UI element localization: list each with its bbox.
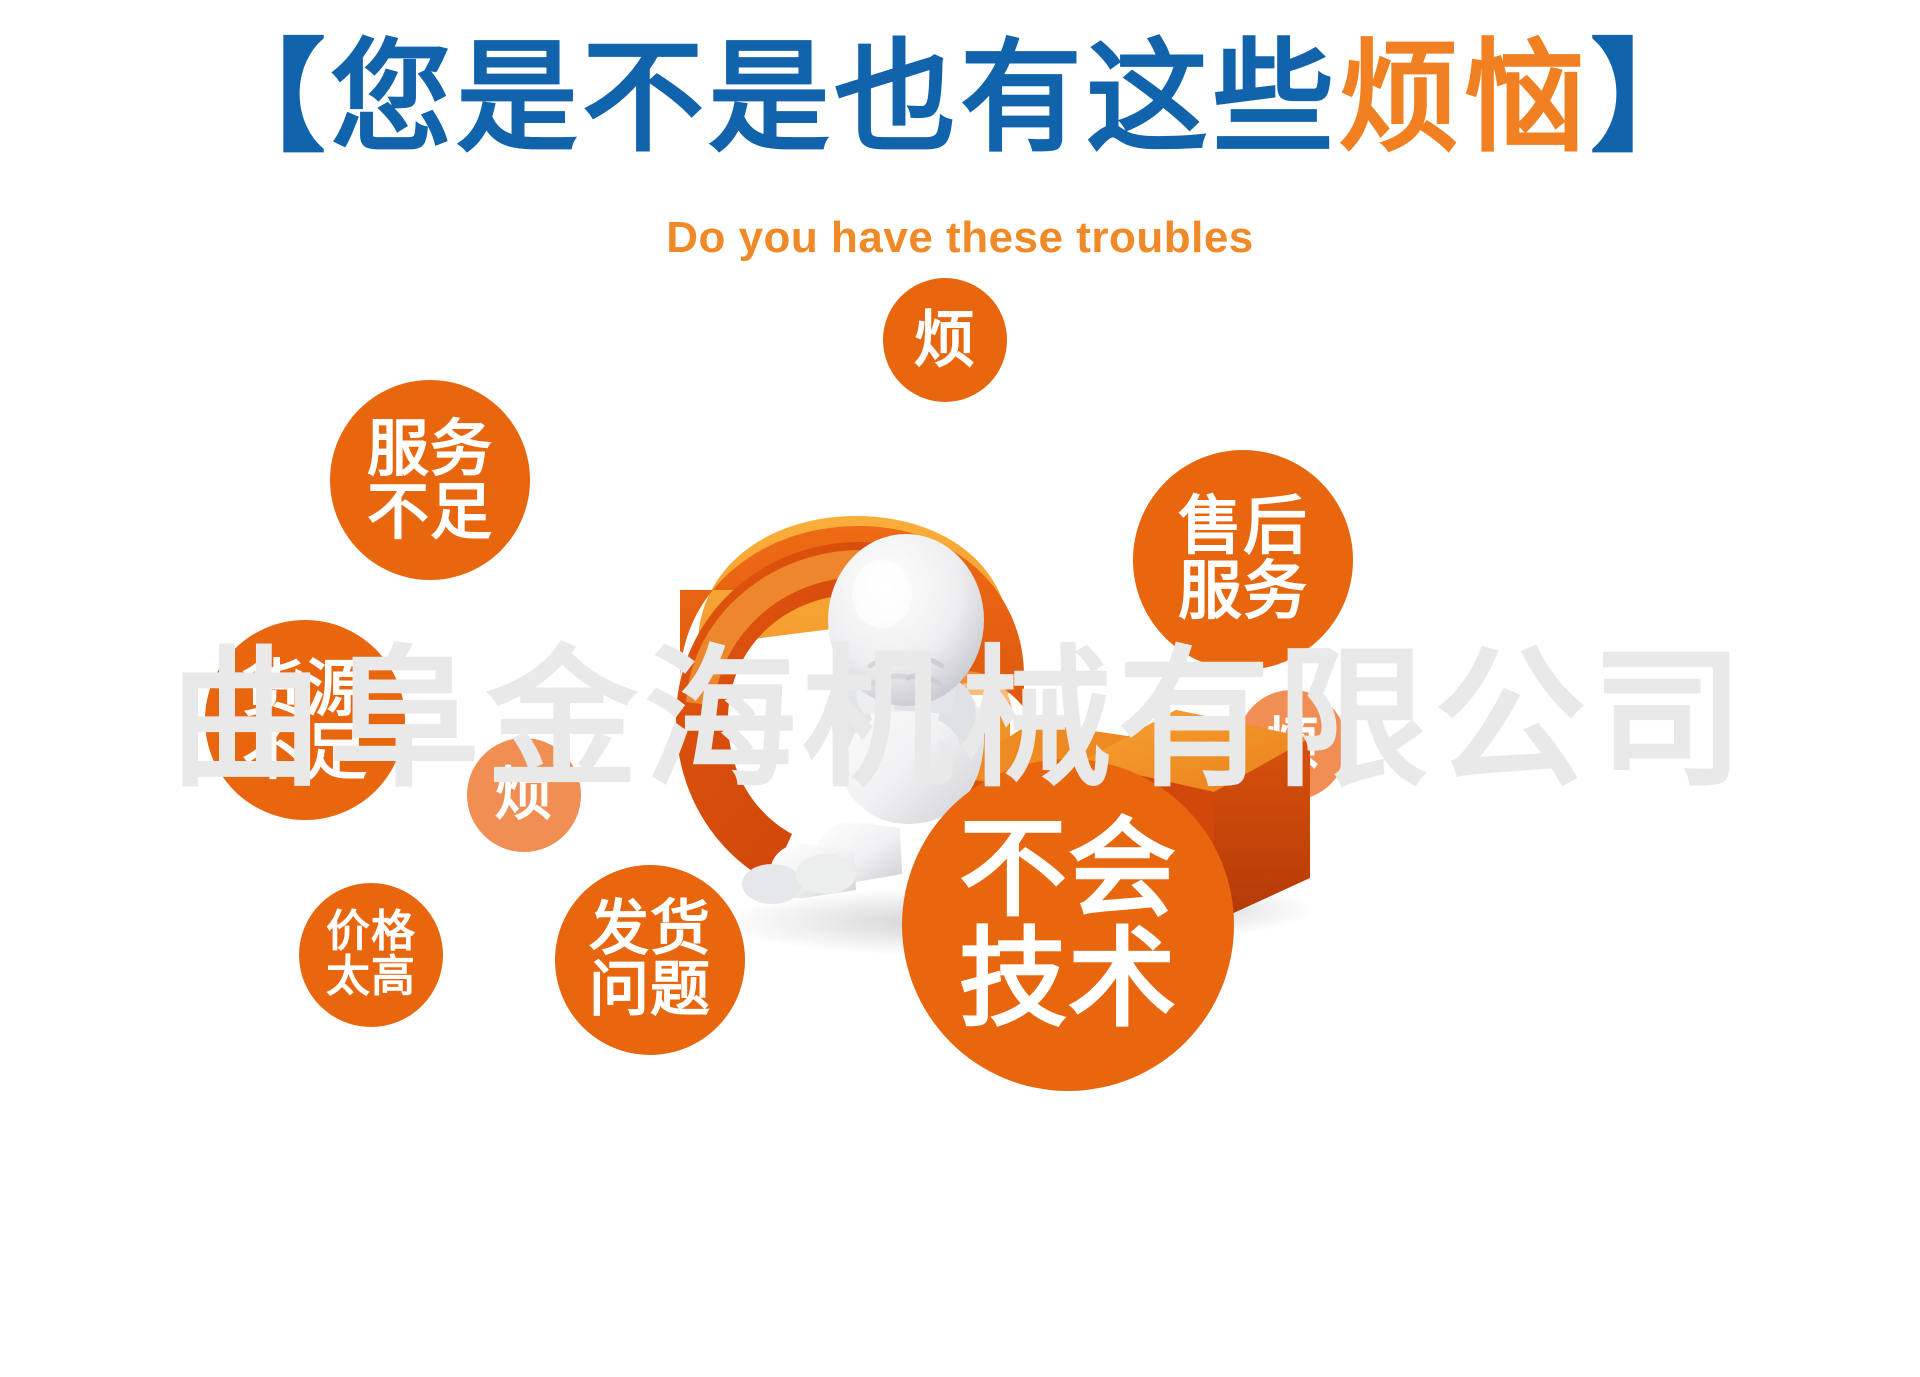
- bubble-label-line: 服务: [367, 417, 493, 480]
- bubble-label-line: 技术: [959, 925, 1177, 1035]
- title-highlight-text: 烦恼: [1338, 27, 1590, 169]
- bubble-fan-mid: 烦: [467, 738, 581, 852]
- bubble-label-line: 售后: [1178, 495, 1308, 560]
- bubble-label-line: 不会: [959, 815, 1177, 925]
- bubble-label-line: 太高: [326, 955, 416, 1000]
- bubble-after-sales: 售后服务: [1133, 450, 1353, 670]
- bubble-label-line: 不足: [242, 720, 368, 783]
- bubble-service-lack: 服务不足: [330, 380, 530, 580]
- bubble-label-line: 烦: [494, 765, 553, 824]
- title-bracket-open: 【: [204, 27, 330, 169]
- bubble-label-line: 价格: [326, 910, 416, 955]
- title-bracket-close: 】: [1590, 27, 1716, 169]
- bubble-label-line: 货源: [242, 657, 368, 720]
- bubble-supply-lack: 货源不足: [205, 620, 405, 820]
- page-subtitle: Do you have these troubles: [0, 212, 1920, 264]
- bubble-fan-top: 烦: [883, 278, 1007, 402]
- bubble-label-line: 不足: [367, 480, 493, 543]
- promo-banner: 【您是不是也有这些烦恼】 Do you have these troubles: [0, 0, 1920, 1377]
- bubble-shipping-issue: 发货问题: [555, 865, 745, 1055]
- bubble-label-line: 发货: [589, 899, 711, 960]
- bubble-label-line: 烦: [913, 308, 976, 371]
- bubble-label-line: 服务: [1178, 560, 1308, 625]
- bubble-price-too-high: 价格太高: [299, 883, 443, 1027]
- bubble-label-line: 问题: [589, 960, 711, 1021]
- title-main-text: 您是不是也有这些: [330, 27, 1338, 169]
- page-title: 【您是不是也有这些烦恼】: [0, 34, 1920, 162]
- bubble-no-technology: 不会技术: [902, 759, 1234, 1091]
